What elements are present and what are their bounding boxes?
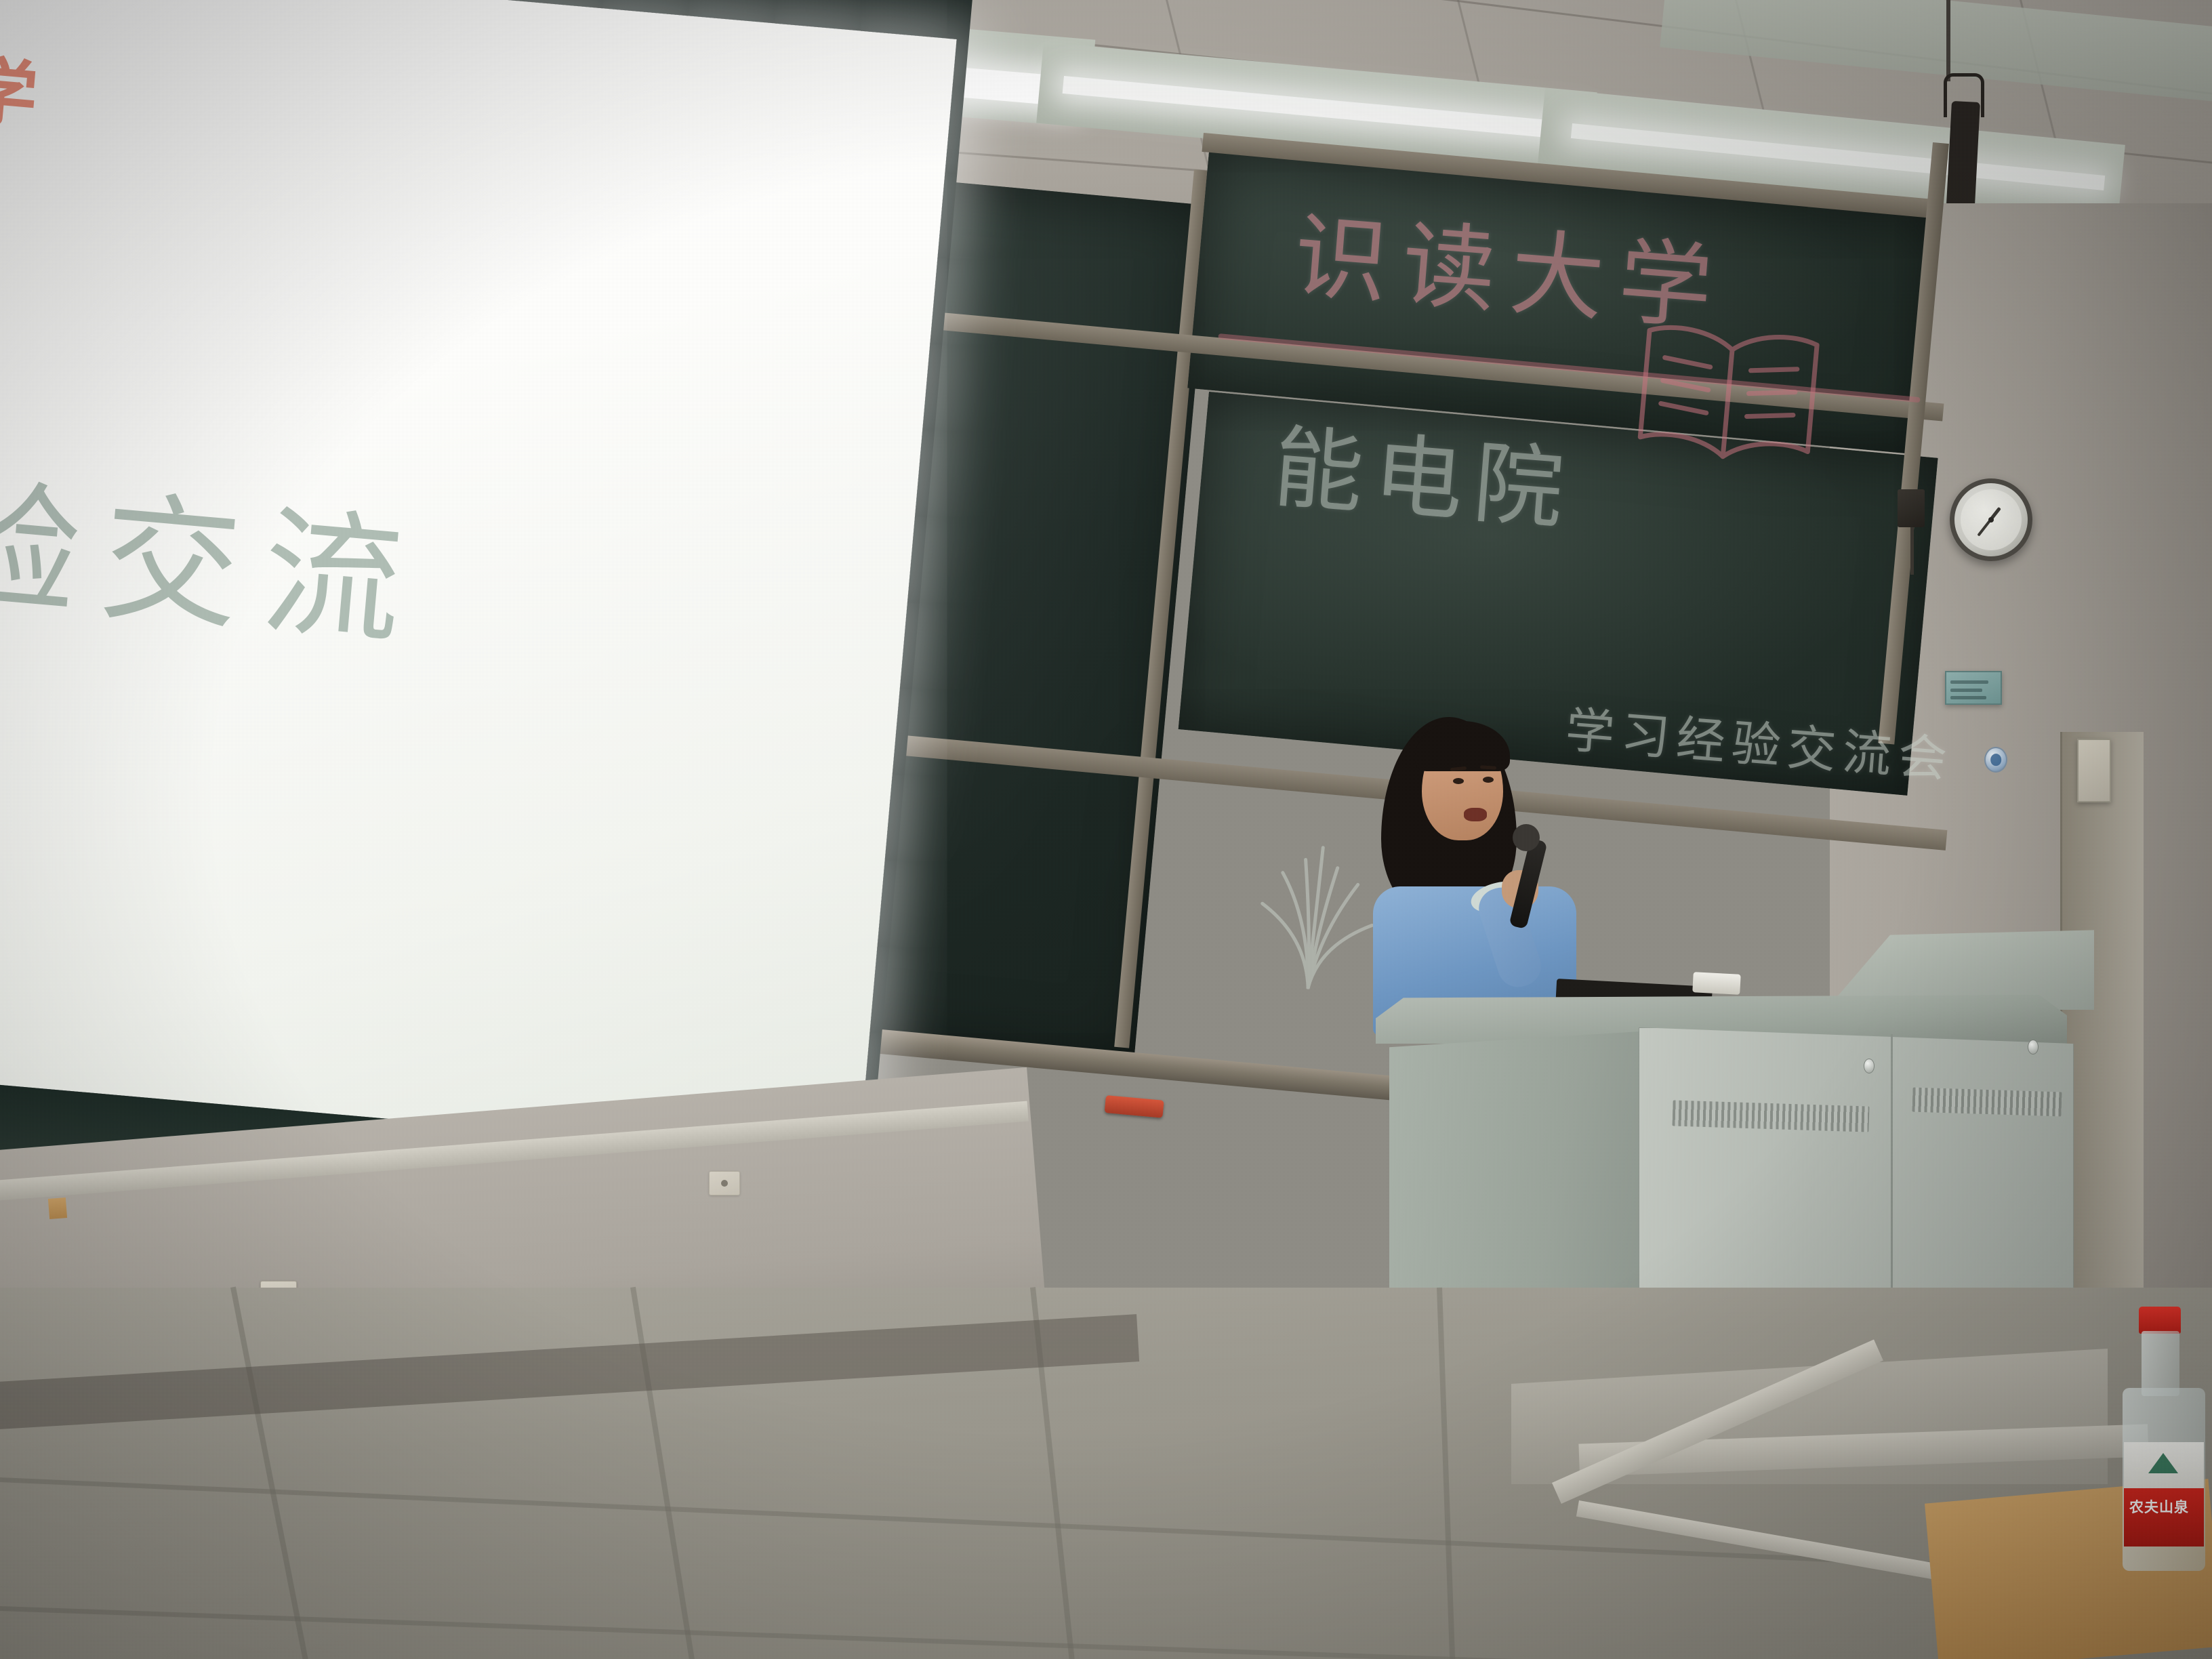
- bottle-logo-icon: [2148, 1453, 2178, 1473]
- wall-cap-yellow-end: [48, 1197, 67, 1219]
- bottle-cap: [2139, 1307, 2181, 1334]
- slide-logo-text: 大学: [0, 47, 53, 136]
- paper-cup-on-lectern: [1692, 972, 1740, 995]
- wall-badge-round: [1984, 747, 2007, 773]
- slide-title-text: 经验交流: [0, 461, 430, 656]
- lectern-lock-left[interactable]: [1864, 1059, 1875, 1073]
- wall-sign-plate: [1945, 671, 2002, 705]
- lectern-lock-right[interactable]: [2028, 1040, 2039, 1054]
- classroom-scene: 识读大学 能电院 学习经验交流会: [0, 0, 2212, 1659]
- microphone-head: [1513, 824, 1540, 851]
- wall-speaker: [1898, 489, 1925, 527]
- open-book-drawing: [1620, 310, 1837, 483]
- bottle-neck: [2142, 1331, 2179, 1396]
- wall-notice-right: [2077, 739, 2111, 802]
- projector-mount-cable: [1946, 0, 1950, 81]
- wall-socket-mid[interactable]: [709, 1171, 740, 1195]
- wall-clock-center-pin: [1988, 517, 1994, 523]
- projection-screen-surface: 大学 经验交流: [0, 0, 957, 1160]
- presenter-eye-right: [1483, 777, 1494, 783]
- presenter-eye-left: [1453, 778, 1464, 784]
- bottle-brand-text: 农夫山泉: [2129, 1496, 2189, 1517]
- wall-socket-mid-hole: [721, 1180, 728, 1187]
- wall-clock: [1950, 478, 2032, 561]
- projection-screen: 大学 经验交流: [0, 0, 976, 1242]
- wall-badge-mark: [1990, 754, 2001, 766]
- presenter-mouth: [1464, 808, 1487, 821]
- water-bottle[interactable]: 农夫山泉: [2106, 1307, 2212, 1578]
- lectern-vent-2: [1912, 1088, 2062, 1117]
